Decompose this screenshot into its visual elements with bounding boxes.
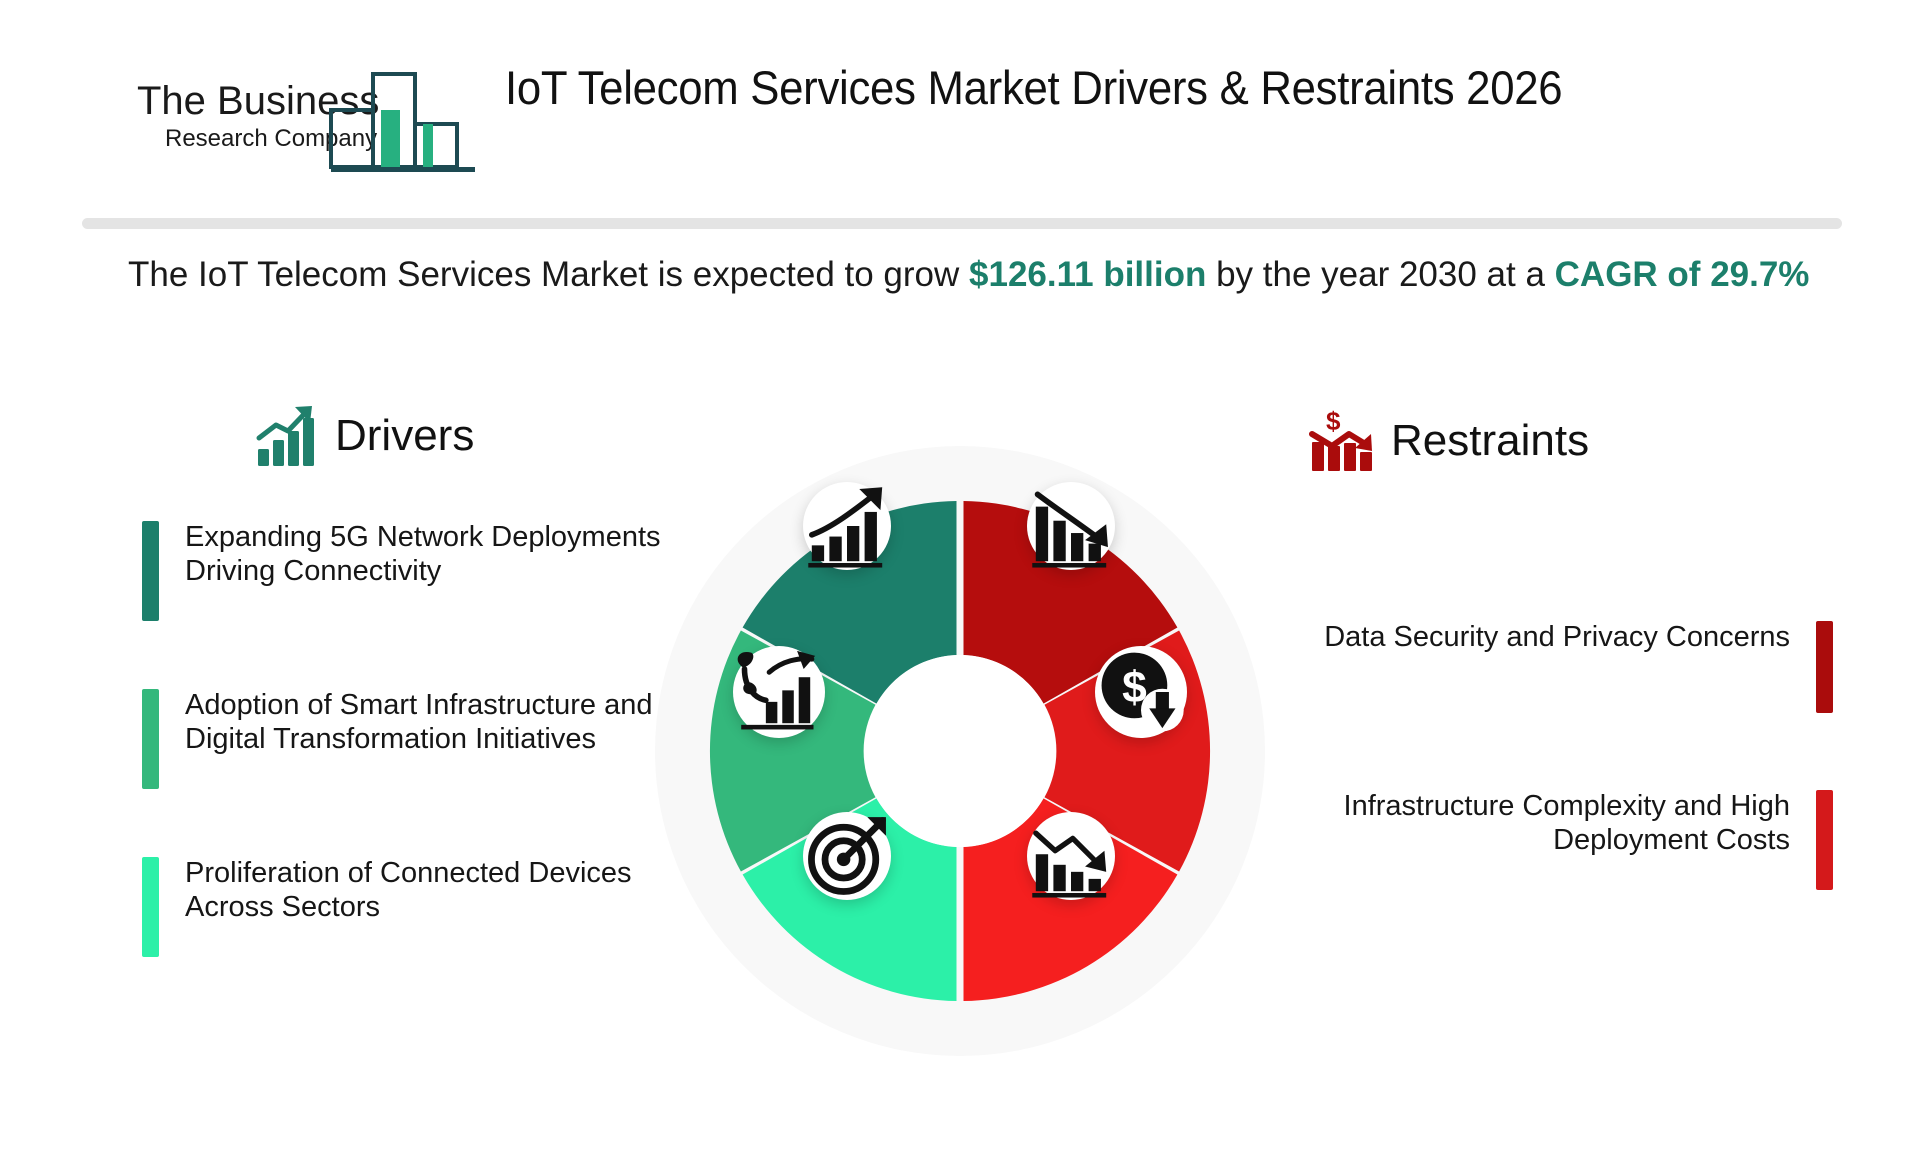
- accent-bar: [1816, 621, 1833, 713]
- drivers-restraints-wheel: $: [655, 446, 1265, 1056]
- svg-text:Research Company: Research Company: [165, 125, 377, 152]
- driver-item-0: Expanding 5G Network Deployments Driving…: [142, 521, 682, 621]
- restraint-text-0: Data Security and Privacy Concerns: [1324, 621, 1790, 713]
- accent-bar: [142, 521, 159, 621]
- summary-part-2: by the year 2030 at a: [1206, 255, 1554, 294]
- declining-line-chart-icon: [1027, 551, 1115, 1161]
- page-header: The Business Research Company IoT Teleco…: [0, 0, 1920, 200]
- restraints-section-header: $ Restraints: [1309, 410, 1589, 472]
- accent-bar: [1816, 790, 1833, 890]
- company-logo: The Business Research Company: [135, 62, 475, 177]
- restraint-item-0: Data Security and Privacy Concerns: [1233, 621, 1833, 713]
- page-title: IoT Telecom Services Market Drivers & Re…: [505, 60, 1798, 115]
- drivers-heading: Drivers: [335, 411, 474, 461]
- restraints-heading: Restraints: [1391, 416, 1589, 466]
- decline-dollar-chart-icon: $: [1309, 410, 1373, 472]
- svg-text:The Business: The Business: [137, 79, 379, 123]
- accent-bar: [142, 857, 159, 957]
- driver-item-2: Proliferation of Connected Devices Acros…: [142, 857, 682, 957]
- badge-declining-line-chart: [1027, 812, 1115, 900]
- plant-growth-chart-icon: [733, 387, 825, 997]
- restraint-text-1: Infrastructure Complexity and High Deplo…: [1233, 790, 1790, 890]
- cagr-value: CAGR of 29.7%: [1555, 255, 1810, 294]
- driver-text-2: Proliferation of Connected Devices Acros…: [185, 857, 682, 957]
- drivers-section-header: Drivers: [255, 405, 474, 467]
- driver-text-1: Adoption of Smart Infrastructure and Dig…: [185, 689, 687, 789]
- market-summary-text: The IoT Telecom Services Market is expec…: [128, 252, 1818, 298]
- restraint-item-1: Infrastructure Complexity and High Deplo…: [1233, 790, 1833, 890]
- driver-item-1: Adoption of Smart Infrastructure and Dig…: [142, 689, 687, 789]
- growth-up-chart-icon: [255, 405, 317, 467]
- badge-plant-growth-chart: [733, 646, 825, 738]
- driver-text-0: Expanding 5G Network Deployments Driving…: [185, 521, 682, 621]
- svg-text:$: $: [1326, 410, 1341, 436]
- header-divider: [82, 218, 1842, 229]
- accent-bar: [142, 689, 159, 789]
